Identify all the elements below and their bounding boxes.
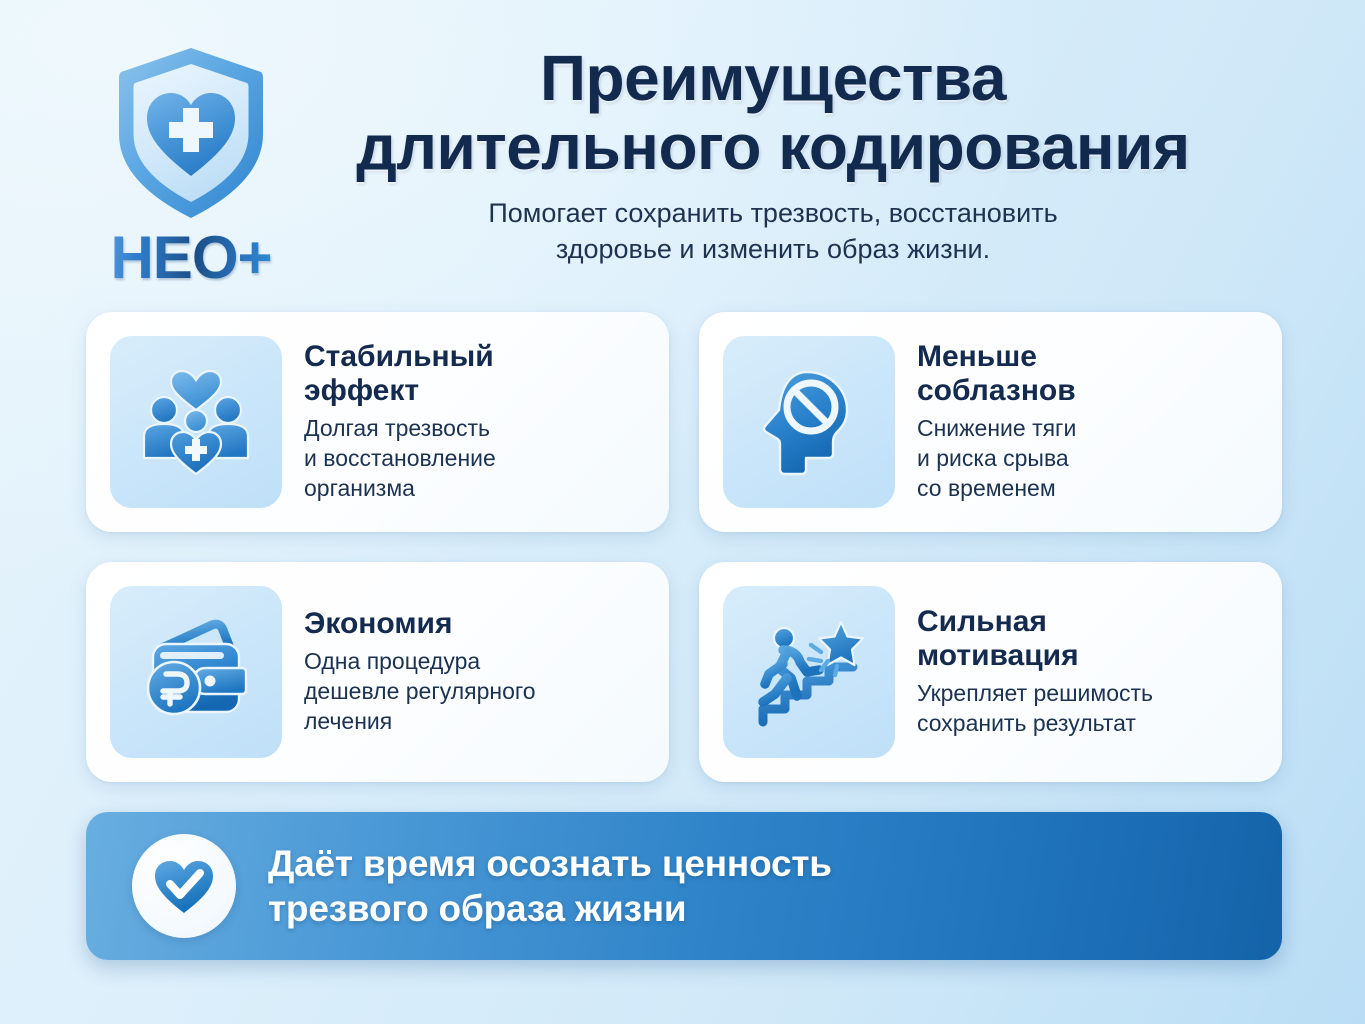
family-heart-plus-icon	[110, 336, 282, 508]
benefit-card: Сильная мотивация Укрепляет решимость со…	[699, 562, 1282, 782]
banner-text: Даёт время осознать ценность трезвого об…	[268, 841, 832, 931]
shield-heart-cross-icon	[111, 42, 271, 224]
benefit-card: Стабильный эффект Долгая трезвость и вос…	[86, 312, 669, 532]
card-description: Одна процедура дешевле регулярного лечен…	[304, 647, 643, 737]
card-text: Сильная мотивация Укрепляет решимость со…	[917, 605, 1256, 739]
card-title: Меньше соблазнов	[917, 340, 1256, 408]
head-prohibition-icon	[723, 336, 895, 508]
header-section: НЕО+ Преимущества длительного кодировани…	[0, 0, 1365, 300]
card-title: Экономия	[304, 607, 643, 641]
bottom-banner: Даёт время осознать ценность трезвого об…	[86, 812, 1282, 960]
wallet-ruble-icon	[110, 586, 282, 758]
heart-check-icon	[132, 834, 236, 938]
benefit-card: Меньше соблазнов Снижение тяги и риска с…	[699, 312, 1282, 532]
infographic-poster: НЕО+ Преимущества длительного кодировани…	[0, 0, 1365, 1024]
title-block: Преимущества длительного кодирования Пом…	[268, 0, 1278, 268]
card-title: Сильная мотивация	[917, 605, 1256, 673]
page-subtitle: Помогает сохранить трезвость, восстанови…	[268, 196, 1278, 268]
benefit-card-grid: Стабильный эффект Долгая трезвость и вос…	[86, 312, 1282, 782]
card-description: Долгая трезвость и восстановление органи…	[304, 414, 643, 504]
stairs-star-runner-icon	[723, 586, 895, 758]
card-text: Экономия Одна процедура дешевле регулярн…	[304, 607, 643, 737]
card-description: Снижение тяги и риска срыва со временем	[917, 414, 1256, 504]
benefit-card: Экономия Одна процедура дешевле регулярн…	[86, 562, 669, 782]
card-text: Меньше соблазнов Снижение тяги и риска с…	[917, 340, 1256, 503]
card-description: Укрепляет решимость сохранить результат	[917, 679, 1256, 739]
card-title: Стабильный эффект	[304, 340, 643, 408]
card-text: Стабильный эффект Долгая трезвость и вос…	[304, 340, 643, 503]
page-title: Преимущества длительного кодирования	[268, 0, 1278, 182]
